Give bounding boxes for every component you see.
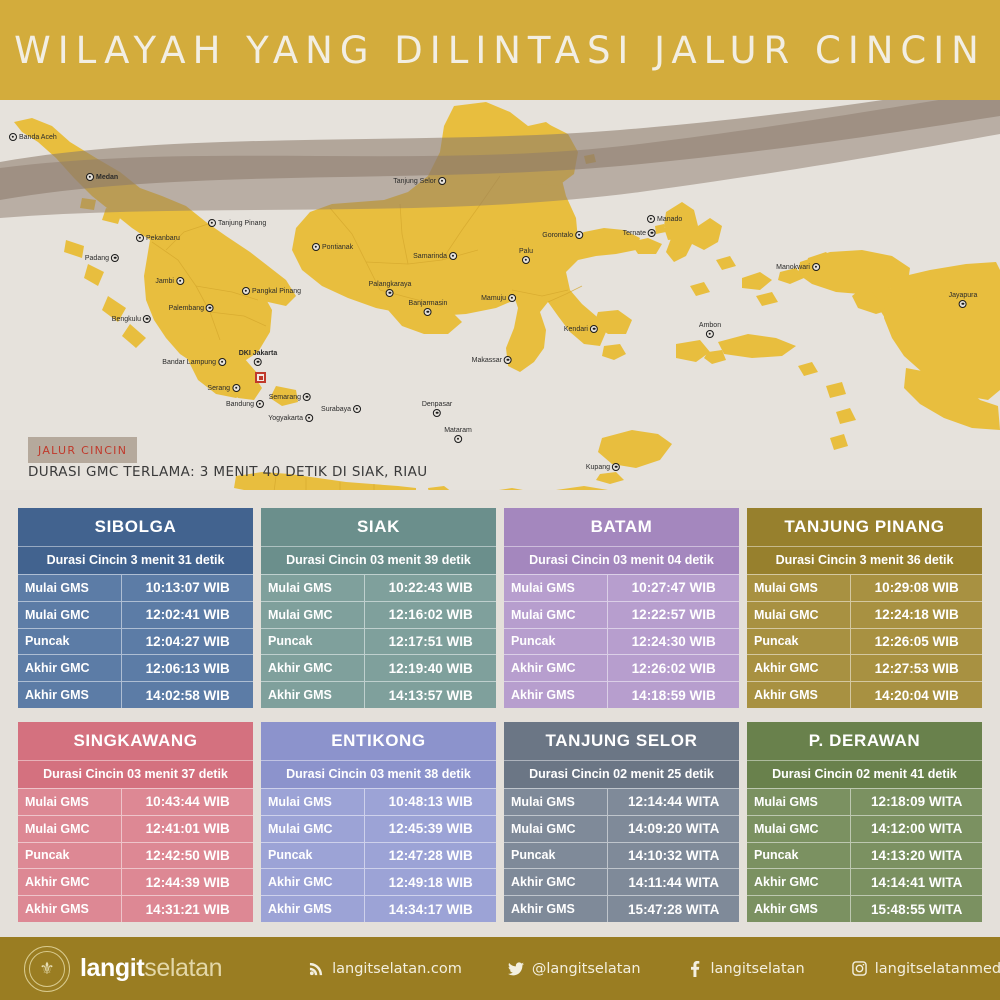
instagram-icon xyxy=(851,960,868,977)
city-dot-icon xyxy=(522,256,530,264)
timing-card: P. DERAWANDurasi Cincin 02 menit 41 deti… xyxy=(747,722,982,922)
city-label: Palu xyxy=(519,248,533,255)
row-label: Akhir GMC xyxy=(261,875,364,889)
table-row: Akhir GMC12:44:39 WIB xyxy=(18,868,253,895)
card-rows: Mulai GMS10:48:13 WIBMulai GMC12:45:39 W… xyxy=(261,788,496,922)
city-label: Bandar Lampung xyxy=(162,359,216,366)
city-dot-icon xyxy=(111,254,119,262)
city-marker: Denpasar xyxy=(422,401,452,417)
row-label: Mulai GMS xyxy=(504,581,607,595)
table-row: Mulai GMS12:18:09 WITA xyxy=(747,788,982,815)
table-row: Puncak12:04:27 WIB xyxy=(18,628,253,655)
row-value: 12:24:30 WIB xyxy=(607,629,739,655)
city-dot-icon xyxy=(242,287,250,295)
city-label: Pekanbaru xyxy=(146,235,180,242)
table-row: Puncak14:10:32 WITA xyxy=(504,842,739,869)
row-label: Akhir GMS xyxy=(18,902,121,916)
row-value: 14:34:17 WIB xyxy=(364,896,496,922)
city-marker: Jayapura xyxy=(949,292,978,308)
row-value: 12:26:02 WIB xyxy=(607,655,739,681)
social-links: langitselatan.com@langitselatanlangitsel… xyxy=(308,960,1000,977)
card-rows: Mulai GMS10:22:43 WIBMulai GMC12:16:02 W… xyxy=(261,574,496,708)
city-label: Tanjung Pinang xyxy=(218,220,266,227)
table-row: Mulai GMC12:41:01 WIB xyxy=(18,815,253,842)
card-rows: Mulai GMS10:43:44 WIBMulai GMC12:41:01 W… xyxy=(18,788,253,922)
row-label: Akhir GMS xyxy=(18,688,121,702)
city-marker: Tanjung Selor xyxy=(393,177,446,185)
card-rows: Mulai GMS12:18:09 WITAMulai GMC14:12:00 … xyxy=(747,788,982,922)
row-label: Akhir GMS xyxy=(504,902,607,916)
row-label: Mulai GMC xyxy=(504,608,607,622)
city-dot-icon xyxy=(256,400,264,408)
legend-jalur-cincin: JALUR CINCIN xyxy=(28,437,137,463)
city-dot-icon xyxy=(454,435,462,443)
row-label: Akhir GMC xyxy=(504,661,607,675)
social-link-instagram[interactable]: langitselatanmedia xyxy=(851,960,1000,977)
city-marker: Mataram xyxy=(444,427,472,443)
city-dot-icon xyxy=(504,356,512,364)
city-marker: Manado xyxy=(647,215,682,223)
infographic-page: WILAYAH YANG DILINTASI JALUR CINCIN xyxy=(0,0,1000,1000)
row-value: 14:02:58 WIB xyxy=(121,682,253,708)
city-label: Pontianak xyxy=(322,244,353,251)
row-value: 12:18:09 WITA xyxy=(850,789,982,815)
table-row: Puncak14:13:20 WITA xyxy=(747,842,982,869)
row-value: 12:27:53 WIB xyxy=(850,655,982,681)
table-row: Akhir GMC14:11:44 WITA xyxy=(504,868,739,895)
row-label: Puncak xyxy=(747,634,850,648)
city-dot-icon xyxy=(254,358,262,366)
city-marker: Yogyakarta xyxy=(268,414,313,422)
row-label: Mulai GMS xyxy=(18,581,121,595)
row-label: Mulai GMC xyxy=(747,822,850,836)
row-label: Mulai GMS xyxy=(18,795,121,809)
table-row: Mulai GMC12:22:57 WIB xyxy=(504,601,739,628)
city-dot-icon xyxy=(812,263,820,271)
row-label: Akhir GMS xyxy=(261,902,364,916)
city-dot-icon xyxy=(303,393,311,401)
row-value: 14:11:44 WITA xyxy=(607,869,739,895)
city-marker: Semarang xyxy=(269,393,311,401)
row-value: 12:24:18 WIB xyxy=(850,602,982,628)
card-city-name: P. DERAWAN xyxy=(747,722,982,760)
city-marker: Serang xyxy=(207,384,240,392)
row-label: Mulai GMS xyxy=(747,581,850,595)
card-duration: Durasi Cincin 3 menit 31 detik xyxy=(18,546,253,574)
city-dot-icon xyxy=(575,231,583,239)
social-label: langitselatan xyxy=(711,961,805,977)
city-marker: Bengkulu xyxy=(112,315,151,323)
city-dot-icon xyxy=(433,409,441,417)
page-footer: ⚜ langitselatan langitselatan.com@langit… xyxy=(0,937,1000,1000)
city-label: Banjarmasin xyxy=(409,300,448,307)
city-label: Manokwari xyxy=(776,264,810,271)
table-row: Akhir GMS14:18:59 WIB xyxy=(504,681,739,708)
city-dot-icon xyxy=(9,133,17,141)
city-label: Ternate xyxy=(623,230,646,237)
city-marker: Bandar Lampung xyxy=(162,358,226,366)
city-marker: Banda Aceh xyxy=(9,133,57,141)
city-dot-icon xyxy=(218,358,226,366)
city-marker: Manokwari xyxy=(776,263,820,271)
row-label: Akhir GMS xyxy=(504,688,607,702)
row-value: 12:02:41 WIB xyxy=(121,602,253,628)
city-label: Padang xyxy=(85,255,109,262)
table-row: Akhir GMS14:31:21 WIB xyxy=(18,895,253,922)
card-rows: Mulai GMS12:14:44 WITAMulai GMC14:09:20 … xyxy=(504,788,739,922)
table-row: Puncak12:26:05 WIB xyxy=(747,628,982,655)
city-label: Bandung xyxy=(226,401,254,408)
city-dot-icon xyxy=(612,463,620,471)
city-label: Tanjung Selor xyxy=(393,178,436,185)
row-label: Mulai GMS xyxy=(261,795,364,809)
table-row: Akhir GMS14:34:17 WIB xyxy=(261,895,496,922)
city-marker: Gorontalo xyxy=(542,231,583,239)
city-dot-icon xyxy=(176,277,184,285)
row-label: Mulai GMS xyxy=(261,581,364,595)
city-marker: Kendari xyxy=(564,325,598,333)
table-row: Puncak12:17:51 WIB xyxy=(261,628,496,655)
city-marker: Mamuju xyxy=(481,294,516,302)
table-row: Mulai GMS10:13:07 WIB xyxy=(18,574,253,601)
langitselatan-seal-icon: ⚜ xyxy=(24,946,70,992)
card-city-name: SIBOLGA xyxy=(18,508,253,546)
table-row: Puncak12:24:30 WIB xyxy=(504,628,739,655)
city-dot-icon xyxy=(508,294,516,302)
row-label: Puncak xyxy=(261,634,364,648)
city-marker: Jambi xyxy=(155,277,184,285)
dki-jakarta-marker xyxy=(255,372,266,383)
table-row: Mulai GMS10:22:43 WIB xyxy=(261,574,496,601)
social-link-twitter[interactable]: @langitselatan xyxy=(508,960,641,977)
row-value: 14:31:21 WIB xyxy=(121,896,253,922)
city-dot-icon xyxy=(143,315,151,323)
row-label: Puncak xyxy=(261,848,364,862)
table-row: Mulai GMS10:27:47 WIB xyxy=(504,574,739,601)
row-value: 14:13:57 WIB xyxy=(364,682,496,708)
city-label: Jayapura xyxy=(949,292,978,299)
table-row: Mulai GMS10:43:44 WIB xyxy=(18,788,253,815)
city-label: Samarinda xyxy=(413,253,447,260)
timing-card: SINGKAWANGDurasi Cincin 03 menit 37 deti… xyxy=(18,722,253,922)
city-marker: Palangkaraya xyxy=(369,281,412,297)
card-rows: Mulai GMS10:13:07 WIBMulai GMC12:02:41 W… xyxy=(18,574,253,708)
city-label: Palembang xyxy=(169,305,204,312)
city-marker: DKI Jakarta xyxy=(239,350,278,366)
row-label: Akhir GMS xyxy=(261,688,364,702)
city-dot-icon xyxy=(232,384,240,392)
row-value: 15:48:55 WITA xyxy=(850,896,982,922)
city-label: Mamuju xyxy=(481,295,506,302)
row-label: Mulai GMS xyxy=(747,795,850,809)
table-row: Akhir GMC12:27:53 WIB xyxy=(747,654,982,681)
timing-card: SIAKDurasi Cincin 03 menit 39 detikMulai… xyxy=(261,508,496,708)
seal-glyph: ⚜ xyxy=(39,960,54,977)
row-value: 10:29:08 WIB xyxy=(850,575,982,601)
row-value: 15:47:28 WITA xyxy=(607,896,739,922)
card-duration: Durasi Cincin 03 menit 04 detik xyxy=(504,546,739,574)
row-value: 12:06:13 WIB xyxy=(121,655,253,681)
city-dot-icon xyxy=(86,173,94,181)
table-row: Mulai GMS12:14:44 WITA xyxy=(504,788,739,815)
row-value: 12:19:40 WIB xyxy=(364,655,496,681)
row-value: 14:18:59 WIB xyxy=(607,682,739,708)
card-duration: Durasi Cincin 3 menit 36 detik xyxy=(747,546,982,574)
city-dot-icon xyxy=(706,330,714,338)
table-row: Mulai GMC14:09:20 WITA xyxy=(504,815,739,842)
city-marker: Pangkal Pinang xyxy=(242,287,301,295)
row-label: Puncak xyxy=(18,634,121,648)
timing-card: SIBOLGADurasi Cincin 3 menit 31 detikMul… xyxy=(18,508,253,708)
twitter-icon xyxy=(508,960,525,977)
table-row: Akhir GMC12:49:18 WIB xyxy=(261,868,496,895)
map-caption: DURASI GMC TERLAMA: 3 MENIT 40 DETIK DI … xyxy=(28,464,428,480)
city-dot-icon xyxy=(305,414,313,422)
row-label: Mulai GMC xyxy=(18,822,121,836)
city-dot-icon xyxy=(386,289,394,297)
table-row: Mulai GMC12:02:41 WIB xyxy=(18,601,253,628)
card-city-name: SIAK xyxy=(261,508,496,546)
row-label: Akhir GMC xyxy=(18,661,121,675)
table-row: Akhir GMS14:02:58 WIB xyxy=(18,681,253,708)
row-value: 12:41:01 WIB xyxy=(121,816,253,842)
row-value: 12:16:02 WIB xyxy=(364,602,496,628)
city-marker: Padang xyxy=(85,254,119,262)
card-duration: Durasi Cincin 02 menit 25 detik xyxy=(504,760,739,788)
city-label: Semarang xyxy=(269,394,301,401)
city-dot-icon xyxy=(449,252,457,260)
table-row: Puncak12:47:28 WIB xyxy=(261,842,496,869)
row-label: Akhir GMS xyxy=(747,902,850,916)
card-city-name: ENTIKONG xyxy=(261,722,496,760)
table-row: Mulai GMS10:29:08 WIB xyxy=(747,574,982,601)
legend-label: JALUR CINCIN xyxy=(38,444,127,457)
row-value: 10:48:13 WIB xyxy=(364,789,496,815)
row-value: 10:13:07 WIB xyxy=(121,575,253,601)
table-row: Akhir GMS15:48:55 WITA xyxy=(747,895,982,922)
card-city-name: BATAM xyxy=(504,508,739,546)
row-value: 12:26:05 WIB xyxy=(850,629,982,655)
brand-bold: langit xyxy=(80,954,144,982)
row-value: 12:04:27 WIB xyxy=(121,629,253,655)
city-dot-icon xyxy=(208,219,216,227)
timing-card: TANJUNG PINANGDurasi Cincin 3 menit 36 d… xyxy=(747,508,982,708)
city-marker: Surabaya xyxy=(321,405,361,413)
card-duration: Durasi Cincin 03 menit 38 detik xyxy=(261,760,496,788)
table-row: Akhir GMC14:14:41 WITA xyxy=(747,868,982,895)
city-label: Medan xyxy=(96,174,118,181)
city-marker: Palembang xyxy=(169,304,214,312)
row-label: Mulai GMS xyxy=(504,795,607,809)
city-label: Gorontalo xyxy=(542,232,573,239)
card-city-name: SINGKAWANG xyxy=(18,722,253,760)
city-dot-icon xyxy=(647,215,655,223)
row-value: 12:42:50 WIB xyxy=(121,843,253,869)
card-city-name: TANJUNG SELOR xyxy=(504,722,739,760)
row-value: 12:49:18 WIB xyxy=(364,869,496,895)
table-row: Mulai GMC12:45:39 WIB xyxy=(261,815,496,842)
card-city-name: TANJUNG PINANG xyxy=(747,508,982,546)
city-label: Yogyakarta xyxy=(268,415,303,422)
city-timing-cards: SIBOLGADurasi Cincin 3 menit 31 detikMul… xyxy=(18,508,982,922)
city-dot-icon xyxy=(136,234,144,242)
row-value: 14:12:00 WITA xyxy=(850,816,982,842)
row-label: Akhir GMC xyxy=(18,875,121,889)
card-duration: Durasi Cincin 02 menit 41 detik xyxy=(747,760,982,788)
social-link-facebook[interactable]: langitselatan xyxy=(687,960,805,977)
row-label: Mulai GMC xyxy=(18,608,121,622)
city-label: Pangkal Pinang xyxy=(252,288,301,295)
row-value: 12:47:28 WIB xyxy=(364,843,496,869)
row-value: 10:27:47 WIB xyxy=(607,575,739,601)
timing-card: TANJUNG SELORDurasi Cincin 02 menit 25 d… xyxy=(504,722,739,922)
row-value: 14:09:20 WITA xyxy=(607,816,739,842)
row-value: 10:43:44 WIB xyxy=(121,789,253,815)
row-label: Puncak xyxy=(18,848,121,862)
row-label: Puncak xyxy=(504,848,607,862)
row-value: 12:45:39 WIB xyxy=(364,816,496,842)
city-label: Kendari xyxy=(564,326,588,333)
row-value: 14:10:32 WITA xyxy=(607,843,739,869)
city-label: Surabaya xyxy=(321,406,351,413)
row-label: Puncak xyxy=(747,848,850,862)
city-label: Bengkulu xyxy=(112,316,141,323)
city-label: Makassar xyxy=(472,357,502,364)
table-row: Puncak12:42:50 WIB xyxy=(18,842,253,869)
city-label: Serang xyxy=(207,385,230,392)
table-row: Mulai GMC12:24:18 WIB xyxy=(747,601,982,628)
table-row: Akhir GMS14:20:04 WIB xyxy=(747,681,982,708)
row-label: Mulai GMC xyxy=(261,822,364,836)
city-marker: Pekanbaru xyxy=(136,234,180,242)
city-label: Banda Aceh xyxy=(19,134,57,141)
row-label: Mulai GMC xyxy=(504,822,607,836)
table-row: Akhir GMS14:13:57 WIB xyxy=(261,681,496,708)
city-label: DKI Jakarta xyxy=(239,350,278,357)
city-label: Kupang xyxy=(586,464,610,471)
row-value: 12:17:51 WIB xyxy=(364,629,496,655)
brand-wordmark: langitselatan xyxy=(80,956,222,981)
social-label: langitselatanmedia xyxy=(875,961,1000,977)
row-value: 12:14:44 WITA xyxy=(607,789,739,815)
row-label: Puncak xyxy=(504,634,607,648)
row-value: 12:22:57 WIB xyxy=(607,602,739,628)
city-label: Mataram xyxy=(444,427,472,434)
brand-light: selatan xyxy=(144,954,222,982)
row-label: Akhir GMC xyxy=(261,661,364,675)
city-marker: Palu xyxy=(519,248,533,264)
city-marker: Medan xyxy=(86,173,118,181)
row-value: 12:44:39 WIB xyxy=(121,869,253,895)
city-dot-icon xyxy=(590,325,598,333)
timing-card: BATAMDurasi Cincin 03 menit 04 detikMula… xyxy=(504,508,739,708)
page-header: WILAYAH YANG DILINTASI JALUR CINCIN xyxy=(0,0,1000,100)
row-value: 14:13:20 WITA xyxy=(850,843,982,869)
city-marker: Bandung xyxy=(226,400,264,408)
row-value: 14:20:04 WIB xyxy=(850,682,982,708)
city-marker: Pontianak xyxy=(312,243,353,251)
page-title: WILAYAH YANG DILINTASI JALUR CINCIN xyxy=(14,29,986,72)
table-row: Mulai GMC12:16:02 WIB xyxy=(261,601,496,628)
card-rows: Mulai GMS10:29:08 WIBMulai GMC12:24:18 W… xyxy=(747,574,982,708)
card-rows: Mulai GMS10:27:47 WIBMulai GMC12:22:57 W… xyxy=(504,574,739,708)
social-label: @langitselatan xyxy=(532,961,641,977)
row-value: 14:14:41 WITA xyxy=(850,869,982,895)
table-row: Akhir GMC12:06:13 WIB xyxy=(18,654,253,681)
card-duration: Durasi Cincin 03 menit 37 detik xyxy=(18,760,253,788)
social-label: langitselatan.com xyxy=(332,961,462,977)
table-row: Akhir GMS15:47:28 WITA xyxy=(504,895,739,922)
row-value: 10:22:43 WIB xyxy=(364,575,496,601)
indonesia-map: Banda AcehMedanPekanbaruPadangJambiPalem… xyxy=(0,100,1000,490)
row-label: Akhir GMC xyxy=(747,661,850,675)
city-label: Denpasar xyxy=(422,401,452,408)
social-link-rss[interactable]: langitselatan.com xyxy=(308,960,462,977)
city-dot-icon xyxy=(438,177,446,185)
row-label: Mulai GMC xyxy=(261,608,364,622)
city-marker: Ambon xyxy=(699,322,721,338)
city-marker: Makassar xyxy=(472,356,512,364)
table-row: Akhir GMC12:26:02 WIB xyxy=(504,654,739,681)
city-marker: Tanjung Pinang xyxy=(208,219,266,227)
city-marker: Ternate xyxy=(623,229,656,237)
rss-icon xyxy=(308,960,325,977)
city-label: Jambi xyxy=(155,278,174,285)
table-row: Akhir GMC12:19:40 WIB xyxy=(261,654,496,681)
table-row: Mulai GMS10:48:13 WIB xyxy=(261,788,496,815)
table-row: Mulai GMC14:12:00 WITA xyxy=(747,815,982,842)
card-duration: Durasi Cincin 03 menit 39 detik xyxy=(261,546,496,574)
row-label: Akhir GMC xyxy=(747,875,850,889)
city-label: Ambon xyxy=(699,322,721,329)
city-dot-icon xyxy=(206,304,214,312)
city-dot-icon xyxy=(312,243,320,251)
city-dot-icon xyxy=(353,405,361,413)
timing-card: ENTIKONGDurasi Cincin 03 menit 38 detikM… xyxy=(261,722,496,922)
row-label: Akhir GMS xyxy=(747,688,850,702)
city-label: Manado xyxy=(657,216,682,223)
row-label: Akhir GMC xyxy=(504,875,607,889)
city-marker: Banjarmasin xyxy=(409,300,448,316)
row-label: Mulai GMC xyxy=(747,608,850,622)
city-dot-icon xyxy=(424,308,432,316)
city-label: Palangkaraya xyxy=(369,281,412,288)
city-marker: Samarinda xyxy=(413,252,457,260)
facebook-icon xyxy=(687,960,704,977)
city-marker: Kupang xyxy=(586,463,620,471)
brand-logo: ⚜ langitselatan xyxy=(24,946,222,992)
city-dot-icon xyxy=(648,229,656,237)
city-dot-icon xyxy=(959,300,967,308)
